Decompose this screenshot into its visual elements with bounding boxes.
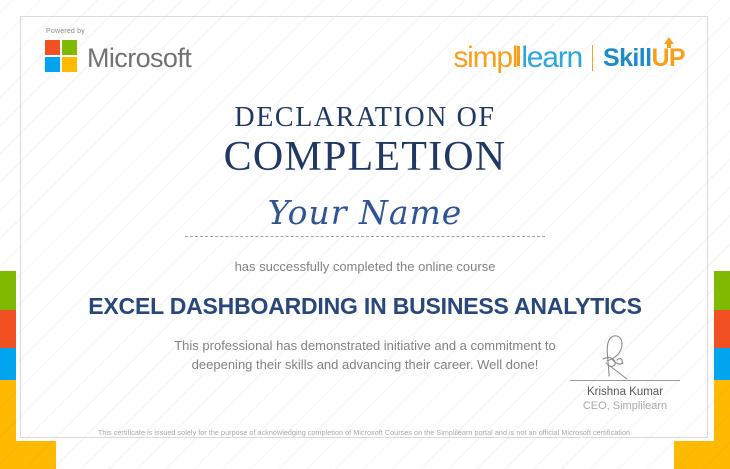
microsoft-square-yellow	[62, 57, 77, 72]
disclaimer-text: This certificate is issued solely for th…	[0, 428, 730, 438]
powered-by-label: Powered by	[46, 28, 85, 35]
certificate-content: Powered by Microsoft simpl learn Skill U…	[0, 0, 730, 469]
body-copy-line-1: This professional has demonstrated initi…	[120, 336, 610, 355]
certificate-heading: DECLARATION OF COMPLETION	[0, 103, 730, 180]
skillup-wordmark: Skill UP	[603, 46, 685, 71]
microsoft-squares-icon	[45, 40, 77, 72]
signature-mark	[565, 332, 685, 380]
recipient-name: Your Name	[0, 193, 730, 233]
microsoft-wordmark: Microsoft	[87, 44, 191, 72]
certificate-body-copy: This professional has demonstrated initi…	[120, 336, 610, 374]
heading-completion: COMPLETION	[0, 134, 730, 180]
microsoft-square-red	[45, 40, 60, 55]
signatory-role: CEO, Simplilearn	[565, 399, 685, 413]
signature-block: Krishna Kumar CEO, Simplilearn	[565, 332, 685, 413]
simplilearn-accent-bar	[517, 46, 520, 66]
microsoft-square-green	[62, 40, 77, 55]
recipient-name-rule	[185, 236, 545, 237]
signature-rule	[570, 380, 680, 381]
completion-subtitle: has successfully completed the online co…	[0, 258, 730, 276]
skillup-text-up: UP	[651, 46, 685, 71]
body-copy-line-2: deepening their skills and advancing the…	[120, 355, 610, 374]
handwritten-signature-icon	[565, 332, 685, 380]
certificate-canvas: Powered by Microsoft simpl learn Skill U…	[0, 0, 730, 469]
recipient-name-block: Your Name	[0, 193, 730, 237]
microsoft-logo: Powered by Microsoft	[45, 40, 191, 72]
simplilearn-wordmark: simpl learn	[453, 43, 582, 73]
signatory-name: Krishna Kumar	[565, 385, 685, 399]
heading-declaration-of: DECLARATION OF	[0, 103, 730, 133]
simplilearn-text-learn: learn	[521, 43, 582, 73]
simplilearn-skillup-logo: simpl learn Skill UP	[453, 41, 685, 75]
simplilearn-text-simpl: simpl	[453, 43, 517, 73]
microsoft-square-blue	[45, 57, 60, 72]
skillup-text-skill: Skill	[603, 46, 651, 71]
course-title: EXCEL DASHBOARDING IN BUSINESS ANALYTICS	[0, 292, 730, 320]
logo-divider	[592, 45, 593, 71]
